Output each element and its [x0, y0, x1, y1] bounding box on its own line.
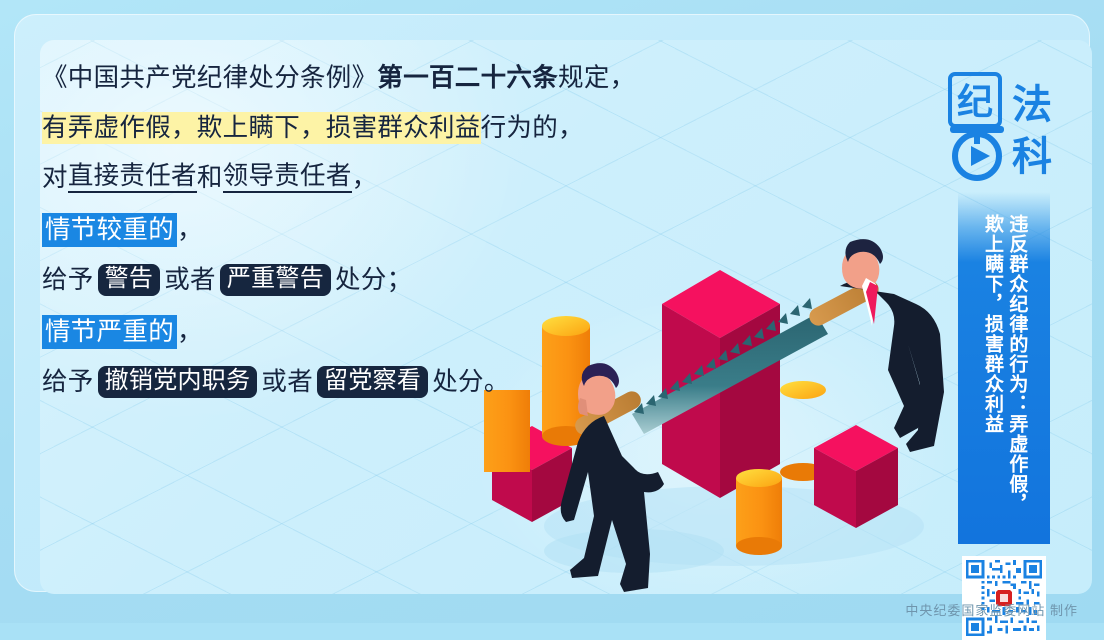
figure-businessman-right	[840, 239, 944, 452]
penalty-badge-probation: 留党察看	[317, 366, 428, 398]
line2-tail: 行为的，	[481, 115, 584, 141]
poster-frame: 《中国共产党纪律处分条例》第一百二十六条规定， 有弄虚作假，欺上瞒下，损害群众利…	[14, 14, 1090, 592]
vertical-banner-column-right: 违反群众纪律的行为：弄虚作假，	[1005, 214, 1027, 532]
svg-text:法: 法	[1012, 83, 1052, 127]
body-text-block: 《中国共产党纪律处分条例》第一百二十六条规定， 有弄虚作假，欺上瞒下，损害群众利…	[42, 52, 682, 404]
text-line-6: 情节严重的，	[42, 310, 682, 354]
vertical-banner-column-left: 欺上瞒下，损害群众利益	[981, 214, 1003, 532]
line1-part-a: 《中国共产党纪律处分条例》	[42, 65, 377, 91]
penalty-badge-serious-warning: 严重警告	[220, 264, 331, 296]
line3-underline-2: 领导责任者	[223, 163, 352, 193]
line3-lead: 对	[42, 165, 68, 191]
line7-lead: 给予	[42, 369, 94, 395]
line3-tail: ，	[352, 165, 378, 191]
shape-orange-cylinder-short	[736, 469, 782, 555]
brand-logo-jifa-baike: 纪 法 科	[944, 70, 1062, 182]
line5-lead: 给予	[42, 267, 94, 293]
poster-root: 《中国共产党纪律处分条例》第一百二十六条规定， 有弄虚作假，欺上瞒下，损害群众利…	[0, 0, 1104, 623]
line4-highlight-blue: 情节较重的	[42, 213, 177, 248]
text-line-1: 《中国共产党纪律处分条例》第一百二十六条规定，	[42, 56, 682, 100]
line5-tail: 处分；	[335, 267, 412, 293]
line6-tail: ，	[177, 319, 203, 345]
penalty-badge-remove-party-post: 撤销党内职务	[98, 366, 258, 398]
penalty-badge-warning: 警告	[98, 264, 161, 296]
credit-text: 中央纪委国家监委网站 制作	[905, 600, 1078, 619]
text-line-2: 有弄虚作假，欺上瞒下，损害群众利益行为的，	[42, 106, 682, 150]
svg-text:纪: 纪	[957, 81, 993, 122]
line7-tail: 处分。	[432, 369, 509, 395]
text-line-3: 对直接责任者和领导责任者，	[42, 156, 682, 200]
vertical-banner: 违反群众纪律的行为：弄虚作假， 欺上瞒下，损害群众利益	[958, 192, 1050, 544]
text-line-7: 给予撤销党内职务或者留党察看处分。	[42, 360, 682, 404]
text-line-5: 给予警告或者严重警告处分；	[42, 258, 682, 302]
line2-highlight-yellow: 有弄虚作假，欺上瞒下，损害群众利益	[42, 112, 481, 145]
line1-part-c: 规定，	[558, 65, 635, 91]
line6-highlight-blue: 情节严重的	[42, 315, 177, 350]
svg-text:科: 科	[1012, 135, 1052, 179]
line4-tail: ，	[177, 217, 203, 243]
line7-mid: 或者	[261, 369, 313, 395]
line5-mid: 或者	[164, 267, 216, 293]
line1-part-b-bold: 第一百二十六条	[377, 65, 558, 91]
line3-underline-1: 直接责任者	[68, 163, 197, 193]
text-line-4: 情节较重的，	[42, 208, 682, 252]
line3-mid: 和	[197, 165, 223, 191]
qr-code[interactable]	[962, 556, 1046, 640]
right-rail: 纪 法 科 违反群众纪律的行为：弄虚作假， 欺上瞒下，损害群众利益	[944, 40, 1064, 594]
